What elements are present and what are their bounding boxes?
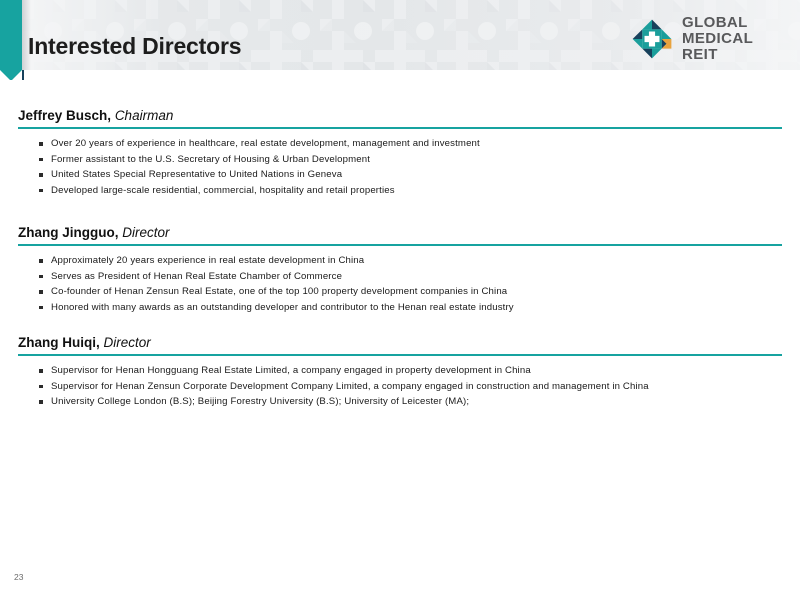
global-medical-reit-cross-icon (630, 17, 674, 61)
section-divider-1 (18, 127, 782, 129)
page-number: 23 (14, 572, 23, 582)
director-role-1: Chairman (115, 108, 174, 123)
list-item: Honored with many awards as an outstandi… (39, 300, 786, 316)
logo-wordmark: GLOBAL MEDICAL REIT (682, 15, 790, 63)
director-bullets-3: Supervisor for Henan Hongguang Real Esta… (18, 363, 786, 410)
director-role-3: Director (104, 335, 151, 350)
section-spacer-2 (18, 321, 786, 335)
section-divider-3 (18, 354, 782, 356)
list-item: Supervisor for Henan Zensun Corporate De… (39, 379, 786, 395)
director-role-2: Director (122, 225, 169, 240)
director-section-3: Zhang Huiqi, Director Supervisor for Hen… (18, 335, 786, 410)
list-item: Supervisor for Henan Hongguang Real Esta… (39, 363, 786, 379)
list-item: United States Special Representative to … (39, 167, 786, 183)
director-name-1: Jeffrey Busch, (18, 108, 111, 123)
section-spacer-1 (18, 204, 786, 225)
director-bullets-1: Over 20 years of experience in healthcar… (18, 136, 786, 198)
director-section-1: Jeffrey Busch, Chairman Over 20 years of… (18, 108, 786, 198)
director-heading-1: Jeffrey Busch, Chairman (18, 108, 786, 123)
directors-content: Jeffrey Busch, Chairman Over 20 years of… (18, 108, 786, 416)
section-divider-2 (18, 244, 782, 246)
director-section-2: Zhang Jingguo, Director Approximately 20… (18, 225, 786, 315)
list-item: Co-founder of Henan Zensun Real Estate, … (39, 284, 786, 300)
page-title: Interested Directors (28, 33, 241, 60)
logo-line-2: MEDICAL REIT (682, 31, 790, 63)
company-logo: GLOBAL MEDICAL REIT (630, 16, 790, 62)
slide-root: Interested Directors GLOBAL MEDICAL REIT (0, 0, 800, 600)
list-item: Former assistant to the U.S. Secretary o… (39, 152, 786, 168)
logo-line-1: GLOBAL (682, 15, 790, 31)
list-item: Serves as President of Henan Real Estate… (39, 269, 786, 285)
list-item: Developed large-scale residential, comme… (39, 183, 786, 199)
list-item: University College London (B.S); Beijing… (39, 394, 786, 410)
director-name-2: Zhang Jingguo, (18, 225, 119, 240)
list-item: Over 20 years of experience in healthcar… (39, 136, 786, 152)
director-name-3: Zhang Huiqi, (18, 335, 100, 350)
teal-accent-arrow-bar (0, 0, 24, 80)
director-heading-3: Zhang Huiqi, Director (18, 335, 786, 350)
director-heading-2: Zhang Jingguo, Director (18, 225, 786, 240)
list-item: Approximately 20 years experience in rea… (39, 253, 786, 269)
director-bullets-2: Approximately 20 years experience in rea… (18, 253, 786, 315)
